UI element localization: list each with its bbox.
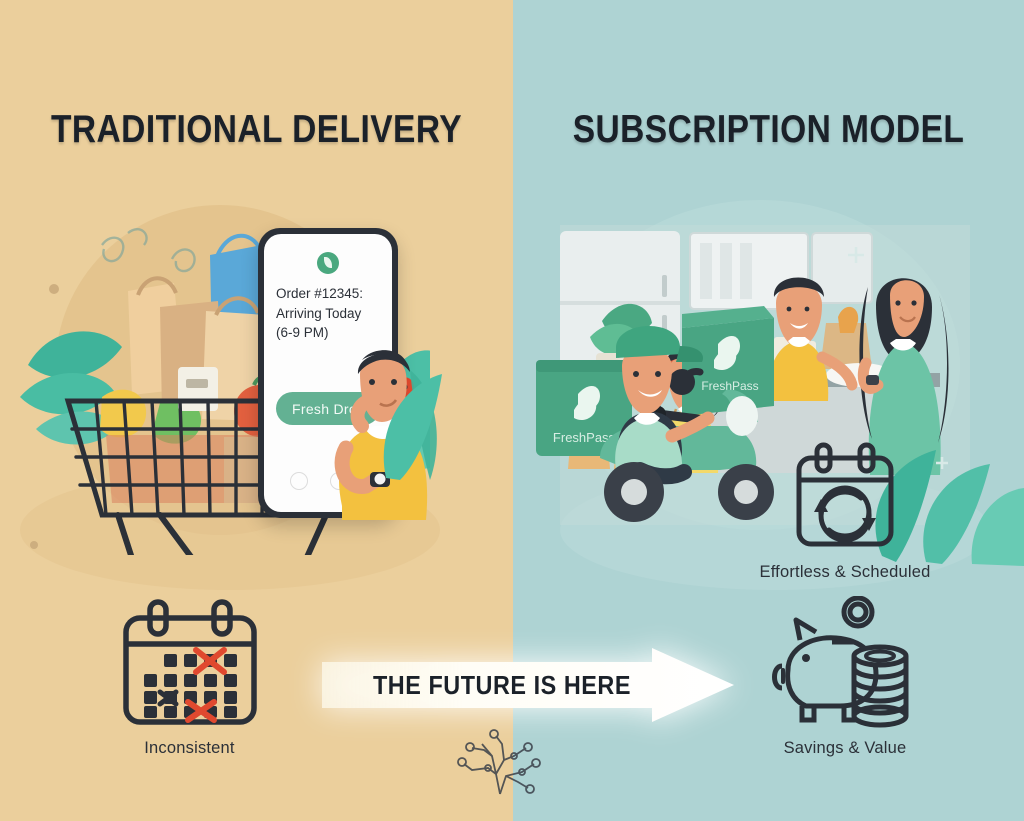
piggy-snout <box>775 666 783 688</box>
savings-value-caption: Savings & Value <box>700 739 990 758</box>
app-leaf-logo-icon <box>317 252 339 274</box>
order-line-2: Arriving Today <box>276 304 384 324</box>
phone-placeholder-dot <box>290 472 308 490</box>
calendar-with-red-x-icon <box>110 596 270 728</box>
inconsistent-caption: Inconsistent <box>92 739 287 758</box>
left-panel-heading: TRADITIONAL DELIVERY <box>36 108 477 152</box>
piggy-eye <box>802 654 810 662</box>
right-panel-heading: SUBSCRIPTION MODEL <box>549 108 988 152</box>
decor-plant-left <box>374 330 454 480</box>
decor-dot <box>49 284 59 294</box>
circuit-network-icon <box>452 726 548 798</box>
feature-effortless-scheduled: Effortless & Scheduled <box>700 440 990 582</box>
calendar-recurring-icon <box>789 440 901 552</box>
courier-cap <box>616 326 682 358</box>
infographic-canvas: TRADITIONAL DELIVERY SUBSCRIPTION MODEL <box>0 0 1024 821</box>
feature-inconsistent: Inconsistent <box>92 596 287 758</box>
decor-dot <box>30 541 38 549</box>
effortless-scheduled-caption: Effortless & Scheduled <box>700 563 990 582</box>
order-line-1: Order #12345: <box>276 284 384 304</box>
future-banner-label: THE FUTURE IS HERE <box>340 648 664 722</box>
calendar-day-cells <box>144 654 237 718</box>
piggy-bank-coins-icon <box>770 596 920 728</box>
scooter-mirror <box>669 369 695 395</box>
scooter-headlight <box>726 396 758 436</box>
piggy-ear <box>796 620 816 640</box>
decor-squiggles <box>102 229 195 271</box>
feature-savings-value: Savings & Value <box>700 596 990 758</box>
